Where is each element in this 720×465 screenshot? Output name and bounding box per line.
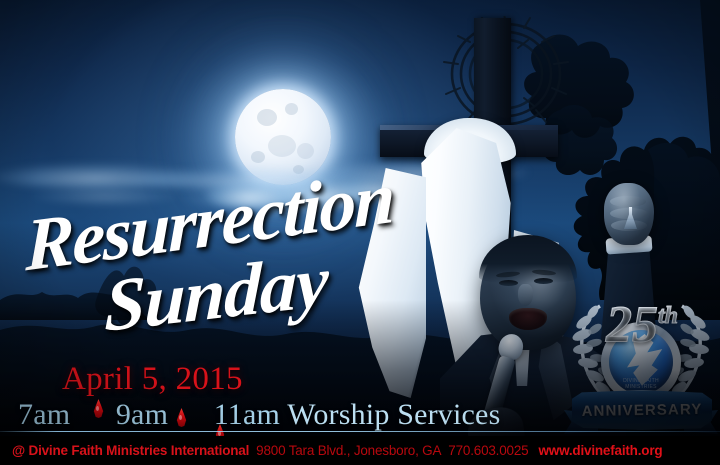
- anniversary-number: 25th: [594, 288, 690, 350]
- footer-phone: 770.603.0025: [448, 443, 528, 458]
- eye-right: [534, 278, 553, 284]
- worship-services-label: Worship Services: [287, 398, 500, 431]
- footer-bar: @ Divine Faith Ministries International …: [0, 436, 720, 465]
- anniversary-seal: DIVINE FAITH MINISTRIES 25th ANNIVERSARY: [568, 292, 714, 440]
- preacher-hair: [479, 235, 577, 283]
- nose: [518, 284, 533, 306]
- resurrection-sunday-flyer: DIVINE FAITH MINISTRIES 25th ANNIVERSARY…: [0, 0, 720, 465]
- service-times: 7am 9am 11am: [18, 398, 287, 431]
- eye-left: [499, 280, 518, 286]
- anniversary-ribbon-label: ANNIVERSARY: [572, 389, 713, 431]
- cloud: [30, 186, 180, 204]
- service-times-line: 7am 9am 11am Worship Services: [18, 398, 500, 432]
- footer-website-link[interactable]: www.divinefaith.org: [538, 443, 662, 458]
- footer-organization: @ Divine Faith Ministries International: [12, 443, 249, 458]
- footer-address: 9800 Tara Blvd., Jonesboro, GA: [256, 443, 441, 458]
- finger: [610, 196, 646, 207]
- event-date: April 5, 2015: [62, 361, 243, 398]
- footer-divider: [0, 431, 720, 432]
- anniversary-number-value: 25: [606, 296, 658, 353]
- anniversary-number-ordinal: th: [658, 303, 678, 329]
